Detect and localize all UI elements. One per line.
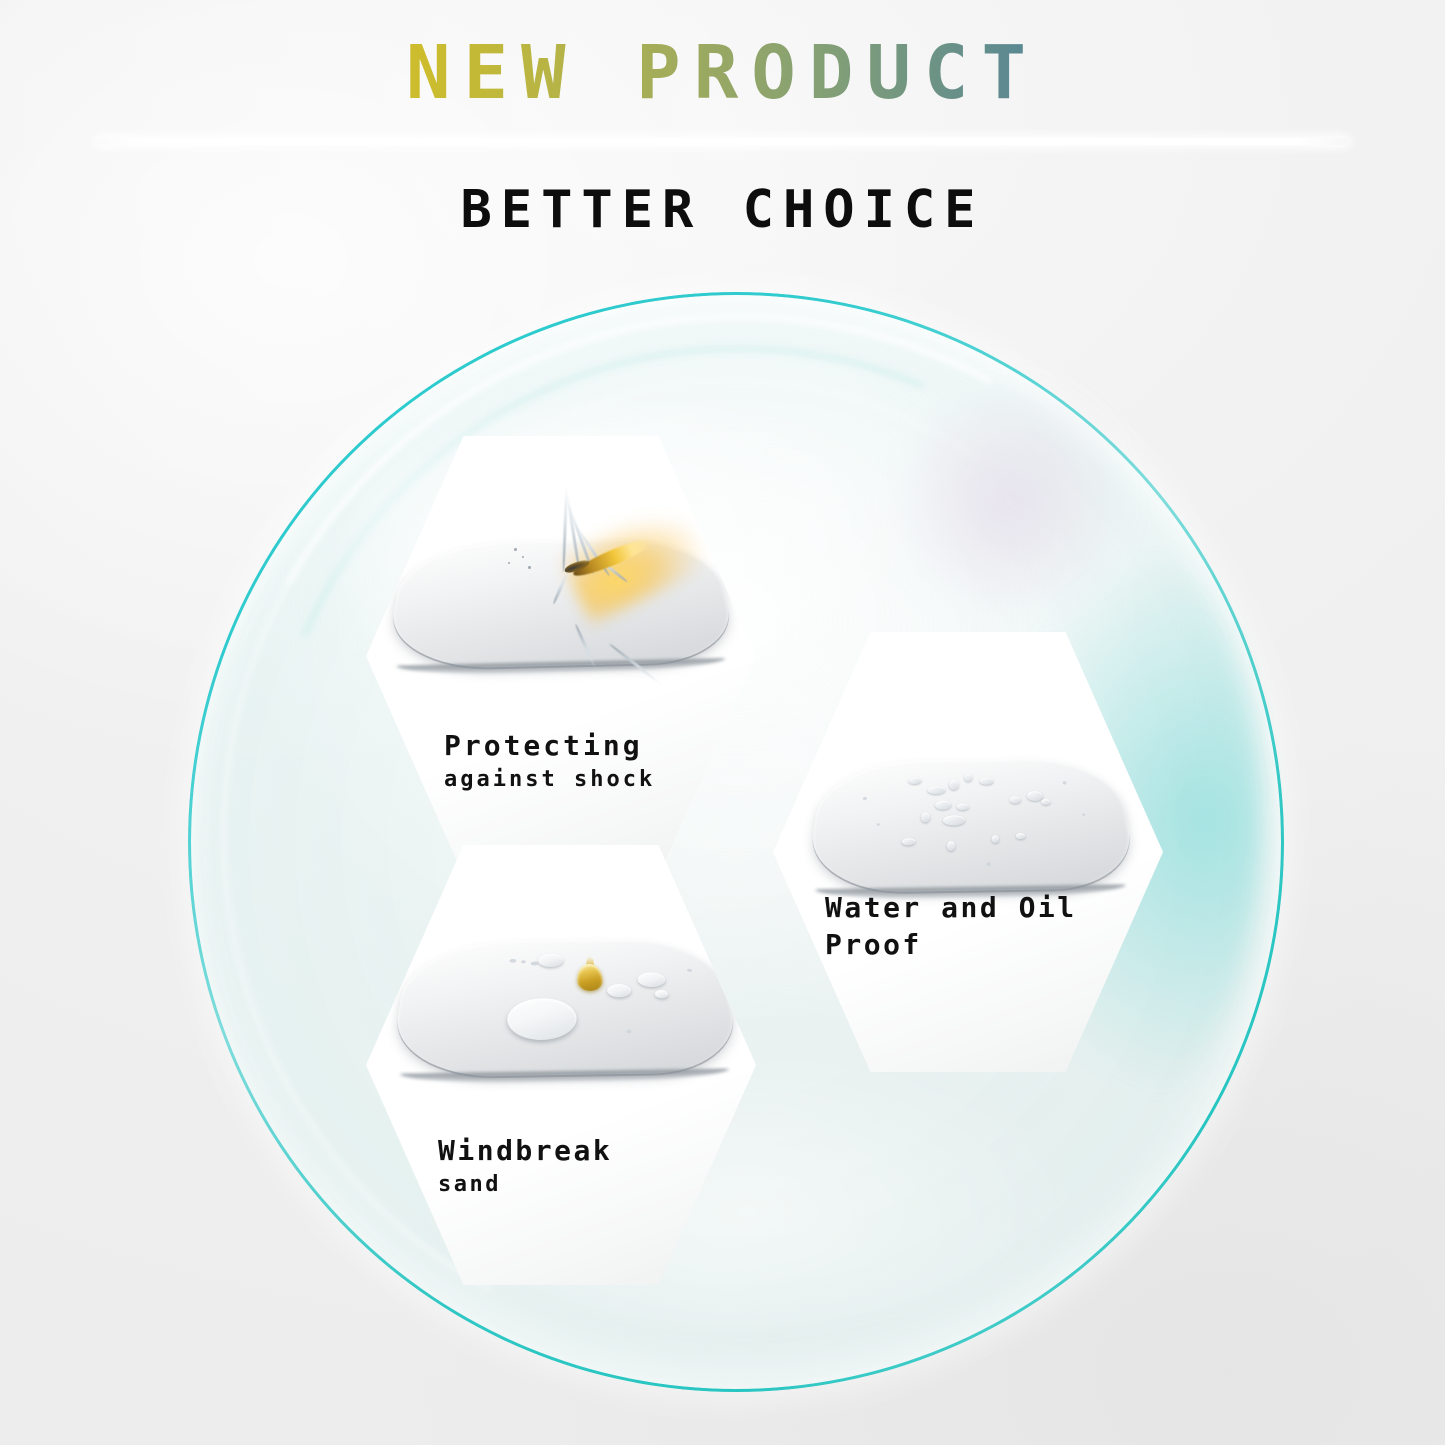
feature-caption-line1: Windbreak xyxy=(438,1134,612,1167)
water-droplet xyxy=(964,773,972,782)
page-title: NEW PRODUCT xyxy=(0,36,1445,110)
water-bead xyxy=(538,954,563,967)
micro-bead xyxy=(687,969,692,972)
water-droplet xyxy=(1027,791,1043,801)
page-subtitle: BETTER CHOICE xyxy=(0,180,1445,240)
oil-droplet xyxy=(577,964,604,991)
water-droplet xyxy=(921,812,930,822)
feature-caption-line2: sand xyxy=(438,1172,501,1197)
feature-caption-line2: against shock xyxy=(444,767,655,792)
water-micro-droplet xyxy=(1082,813,1085,816)
water-droplet xyxy=(980,778,994,785)
water-micro-droplet xyxy=(863,797,867,800)
micro-bead xyxy=(531,962,540,966)
water-droplet xyxy=(902,838,916,845)
water-bead xyxy=(607,984,632,997)
water-droplet xyxy=(957,804,969,811)
water-micro-droplet xyxy=(986,862,990,866)
lens-with-impact-spark-image xyxy=(385,538,739,670)
micro-bead xyxy=(509,959,516,963)
lens-with-water-droplets-image xyxy=(805,758,1138,894)
water-droplet xyxy=(949,780,959,790)
water-droplet xyxy=(1041,799,1050,805)
water-bead xyxy=(637,972,666,987)
header-divider xyxy=(97,138,1348,145)
bubble-graphic: Protecting against shock xyxy=(188,292,1284,1392)
water-bead xyxy=(655,990,669,998)
water-droplet xyxy=(909,777,922,784)
water-droplet xyxy=(928,786,946,794)
water-droplet xyxy=(947,841,955,851)
lens-with-beads-and-oil-drop-image xyxy=(389,938,743,1078)
water-droplet xyxy=(1016,833,1026,839)
product-infographic: NEW PRODUCT BETTER CHOICE xyxy=(0,0,1445,1445)
micro-bead xyxy=(626,1030,631,1034)
feature-caption-line1: Water and Oil xyxy=(825,891,1077,924)
water-droplet xyxy=(935,801,951,810)
water-micro-droplet xyxy=(1062,781,1066,784)
micro-bead xyxy=(521,960,526,963)
large-water-bead xyxy=(507,998,578,1041)
bubble-iridescent-tint xyxy=(889,380,1130,622)
water-droplet xyxy=(943,815,965,825)
water-droplet xyxy=(992,835,999,843)
feature-caption-line1: Protecting xyxy=(444,729,643,762)
water-micro-droplet xyxy=(877,823,880,826)
water-droplet xyxy=(1010,796,1021,803)
feature-caption-line2: Proof xyxy=(825,928,922,961)
